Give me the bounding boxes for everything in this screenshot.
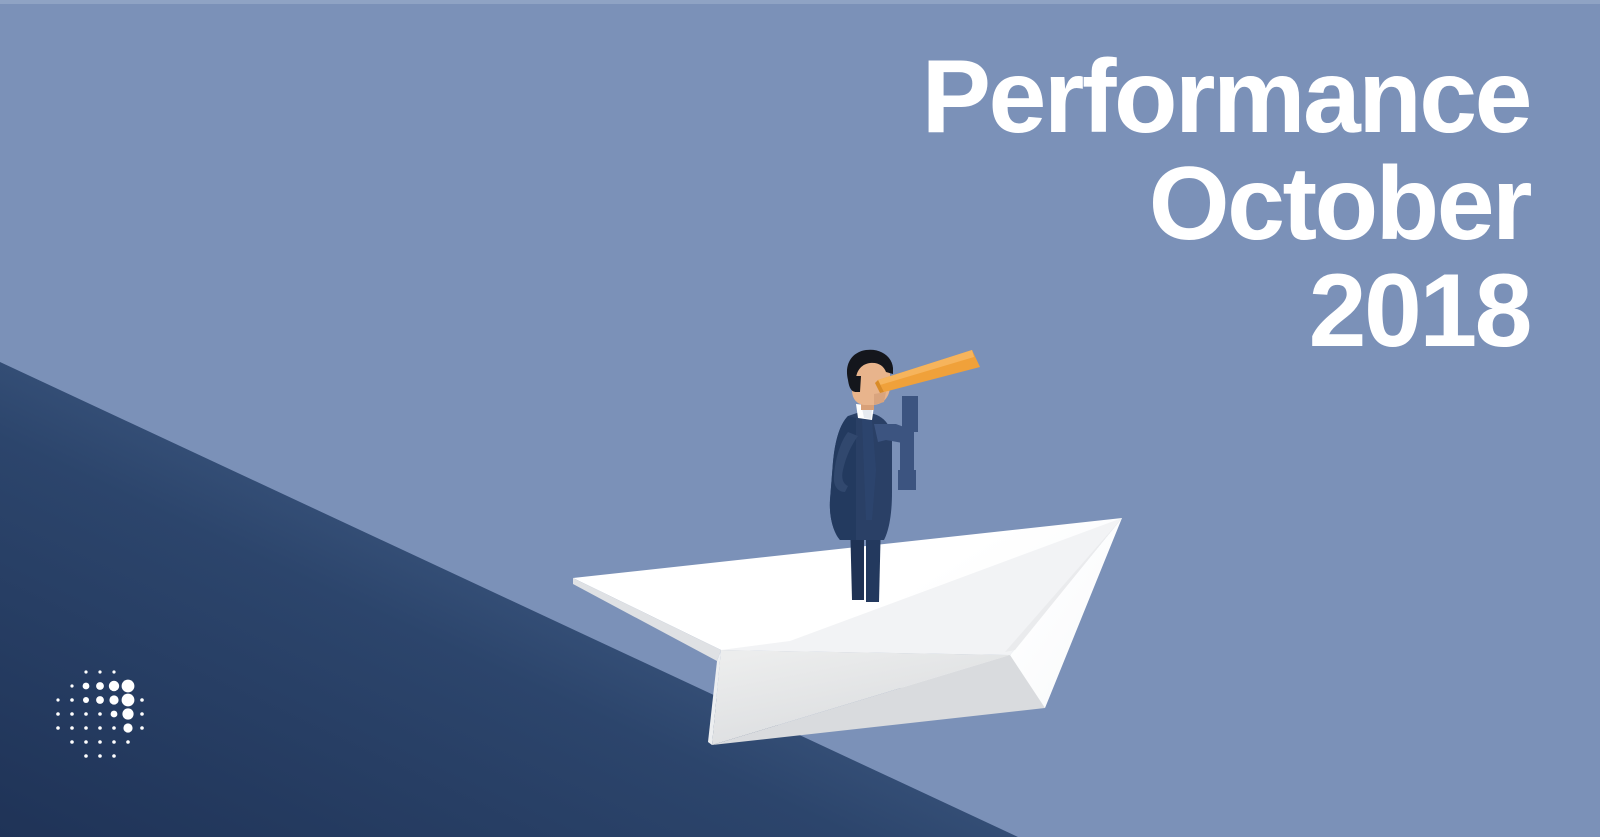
logo-dot <box>84 712 88 716</box>
logo-dot <box>96 682 104 690</box>
logo-dot <box>122 680 135 693</box>
logo-dot <box>111 711 118 718</box>
logo-dot <box>70 726 74 730</box>
title-line-performance: Performance <box>630 44 1530 151</box>
logo-dot <box>98 712 102 716</box>
slide-canvas: Performance October 2018 <box>0 0 1600 837</box>
logo-dot <box>123 723 132 732</box>
logo-dot <box>112 740 116 744</box>
logo-dot <box>83 683 90 690</box>
logo-dot <box>70 740 74 744</box>
logo-dot <box>140 712 144 716</box>
logo-dot <box>56 698 59 701</box>
logo-dot <box>83 697 89 703</box>
logo-dot <box>70 684 73 687</box>
logo-dot <box>109 695 118 704</box>
logo-dot <box>109 681 119 691</box>
logo-dot <box>140 698 144 702</box>
logo-dot <box>112 670 115 673</box>
logo-dot <box>70 698 74 702</box>
logo-dot <box>112 726 116 730</box>
logo-dot <box>126 740 130 744</box>
logo-dot <box>84 726 88 730</box>
logo-dot <box>112 754 116 758</box>
title-line-year: 2018 <box>630 258 1530 365</box>
logo-dot <box>98 740 102 744</box>
logo-dot <box>84 754 88 758</box>
logo-dot <box>56 712 60 716</box>
logo-dot <box>122 694 135 707</box>
logo-dot <box>122 708 133 719</box>
title-line-month: October <box>630 151 1530 258</box>
logo-dot <box>56 726 60 730</box>
logo-dot <box>98 754 102 758</box>
logo-dot <box>84 740 88 744</box>
logo-dot <box>98 726 102 730</box>
logo-dot <box>96 696 104 704</box>
logo-dot <box>98 670 101 673</box>
logo-dot <box>84 670 87 673</box>
slide-title: Performance October 2018 <box>630 44 1530 365</box>
logo-dot <box>70 712 74 716</box>
logo-dot <box>140 726 144 730</box>
